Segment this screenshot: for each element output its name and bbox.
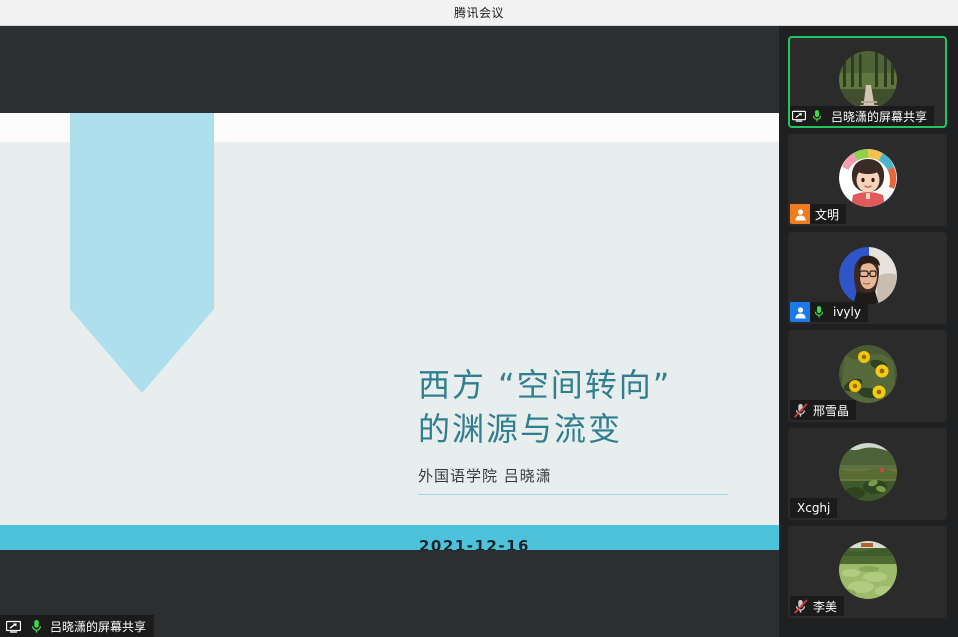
presentation-slide: 西方 “空间转向” 的渊源与流变 外国语学院 吕晓潇 2021-12-16 xyxy=(0,113,779,550)
slide-title-line-2: 的渊源与流变 xyxy=(418,407,748,451)
avatar xyxy=(839,247,897,305)
participant-badge-icon xyxy=(790,302,810,322)
avatar xyxy=(839,149,897,207)
host-badge-icon xyxy=(790,204,810,224)
avatar xyxy=(839,345,897,403)
participant-tile-2[interactable]: ivyly xyxy=(788,232,947,324)
slide-date: 2021-12-16 xyxy=(419,537,530,550)
slide-subtitle: 外国语学院 吕晓潇 xyxy=(418,465,728,495)
participant-rail[interactable]: 吕晓潇的屏幕共享 xyxy=(779,26,958,637)
tencent-meeting-window: 腾讯会议 西方 “空间转向” 的渊源与流变 外国语学院 吕晓潇 2021-12-… xyxy=(0,0,958,637)
avatar xyxy=(839,51,897,109)
microphone-on-icon xyxy=(27,616,45,636)
tile-label: 邢雪晶 xyxy=(790,400,856,420)
slide-title: 西方 “空间转向” 的渊源与流变 xyxy=(418,363,748,451)
microphone-on-icon xyxy=(810,302,828,322)
tile-label: 文明 xyxy=(790,204,846,224)
participant-tile-5[interactable]: 李美 xyxy=(788,526,947,618)
participant-tile-4[interactable]: Xcghj xyxy=(788,428,947,520)
microphone-on-icon xyxy=(808,106,826,126)
slide-title-line-1: 西方 “空间转向” xyxy=(418,363,748,407)
participant-name: 吕晓潇的屏幕共享 xyxy=(826,108,927,125)
participant-tile-0[interactable]: 吕晓潇的屏幕共享 xyxy=(788,36,947,128)
participant-tile-1[interactable]: 文明 xyxy=(788,134,947,226)
self-share-status-bar: 吕晓潇的屏幕共享 xyxy=(0,615,154,637)
tile-label: 李美 xyxy=(790,596,844,616)
tile-label: 吕晓潇的屏幕共享 xyxy=(790,106,934,126)
participant-name: ivyly xyxy=(828,305,861,319)
window-title: 腾讯会议 xyxy=(454,4,504,21)
participant-name: 李美 xyxy=(808,598,837,615)
participant-tile-3[interactable]: 邢雪晶 xyxy=(788,330,947,422)
avatar xyxy=(839,443,897,501)
screen-share-icon xyxy=(4,616,22,636)
slide-ribbon-decoration xyxy=(70,113,214,393)
microphone-muted-icon xyxy=(790,400,808,420)
participant-name: 邢雪晶 xyxy=(808,402,849,419)
window-title-bar: 腾讯会议 xyxy=(0,0,958,26)
slide-bottom-band xyxy=(0,525,779,550)
screen-share-icon xyxy=(790,106,808,126)
microphone-muted-icon xyxy=(790,596,808,616)
avatar xyxy=(839,541,897,599)
participant-name: 文明 xyxy=(810,206,839,223)
self-share-status-name: 吕晓潇的屏幕共享 xyxy=(50,618,146,635)
tile-label: Xcghj xyxy=(790,498,837,518)
participant-name: Xcghj xyxy=(790,501,830,515)
meeting-canvas: 西方 “空间转向” 的渊源与流变 外国语学院 吕晓潇 2021-12-16 xyxy=(0,26,958,637)
shared-screen-stage[interactable]: 西方 “空间转向” 的渊源与流变 外国语学院 吕晓潇 2021-12-16 xyxy=(0,26,779,637)
tile-label: ivyly xyxy=(790,302,868,322)
